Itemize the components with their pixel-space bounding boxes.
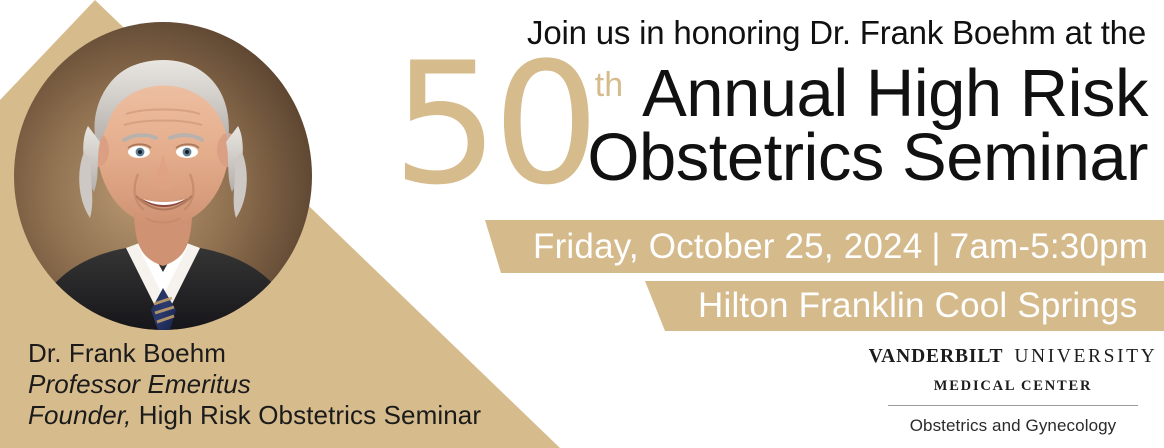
page-title: Annual High Risk Obstetrics Seminar <box>587 62 1148 191</box>
honoree-title: Professor Emeritus <box>28 369 548 400</box>
ribbon-separator: | <box>922 227 949 267</box>
date-time-ribbon: Friday, October 25, 2024 | 7am-5:30pm <box>485 220 1164 273</box>
event-date: Friday, October 25, 2024 <box>533 227 922 267</box>
department-name: Obstetrics and Gynecology <box>882 416 1144 436</box>
vanderbilt-logo: VANDERBILT UNIVERSITY MEDICAL CENTER Obs… <box>882 344 1144 436</box>
vanderbilt-wordmark-row: VANDERBILT UNIVERSITY <box>882 344 1144 370</box>
honoree-role: Founder, High Risk Obstetrics Seminar <box>28 400 548 431</box>
honoree-credit: Dr. Frank Boehm Professor Emeritus Found… <box>28 338 548 432</box>
title-line-2: Obstetrics Seminar <box>587 126 1148 190</box>
avatar <box>14 22 312 330</box>
anniversary-numeral: 50 <box>392 52 594 196</box>
kicker-text: Join us in honoring Dr. Frank Boehm at t… <box>527 14 1146 52</box>
event-venue: Hilton Franklin Cool Springs <box>698 286 1137 326</box>
university-wordmark: UNIVERSITY <box>1014 346 1157 368</box>
event-time: 7am-5:30pm <box>950 227 1148 267</box>
title-line-1: Annual High Risk <box>587 62 1148 126</box>
venue-ribbon: Hilton Franklin Cool Springs <box>645 281 1164 331</box>
honoree-role-founder: Founder, <box>28 400 131 430</box>
seminar-banner: Join us in honoring Dr. Frank Boehm at t… <box>0 0 1164 448</box>
honoree-role-seminar: High Risk Obstetrics Seminar <box>131 400 481 430</box>
vanderbilt-wordmark: VANDERBILT <box>869 346 1004 368</box>
logo-divider <box>888 405 1138 406</box>
medical-center-wordmark: MEDICAL CENTER <box>882 378 1144 395</box>
honoree-name: Dr. Frank Boehm <box>28 338 548 369</box>
